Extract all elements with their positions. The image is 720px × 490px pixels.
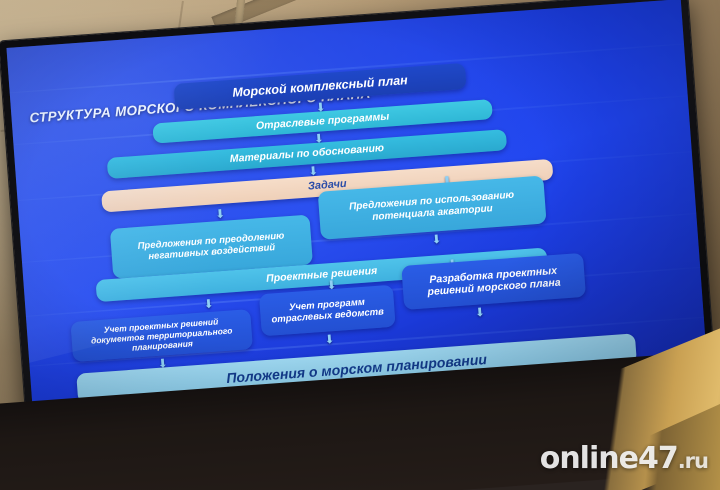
arrow-development-down: ⬇ <box>474 306 485 319</box>
node-plan-label: Морской комплексный план <box>232 73 408 100</box>
node-territorial-label: Учет проектных решений документов террит… <box>77 314 247 356</box>
arrow-potential-down: ⬇ <box>431 233 442 246</box>
arrow-tasks-to-overcoming: ⬇ <box>215 208 226 221</box>
node-overcoming-label: Предложения по преодолению негативных во… <box>117 229 306 265</box>
node-design-label: Проектные решения <box>266 265 378 285</box>
watermark: online47.ru <box>540 441 708 476</box>
node-development-label: Разработка проектных решений морского пл… <box>408 263 579 300</box>
node-programs: Учет программ отраслевых ведомств <box>259 285 396 337</box>
node-materials-label: Материалы по обоснованию <box>229 142 384 166</box>
photo-scene: СТРУКТУРА МОРСКОГО КОМПЛЕКСНОГО ПЛАНА Мо… <box>0 0 720 490</box>
node-programs-label: Учет программ отраслевых ведомств <box>266 295 389 326</box>
arrow-design-to-territorial: ⬇ <box>203 298 214 311</box>
watermark-suffix: .ru <box>678 449 708 473</box>
watermark-text: online47 <box>540 441 678 476</box>
node-territorial: Учет проектных решений документов террит… <box>70 309 252 362</box>
node-branch-label: Отраслевые программы <box>256 110 390 132</box>
node-potential-label: Предложения по использованию потенциала … <box>325 188 540 227</box>
arrow-programs-down: ⬇ <box>324 333 335 346</box>
